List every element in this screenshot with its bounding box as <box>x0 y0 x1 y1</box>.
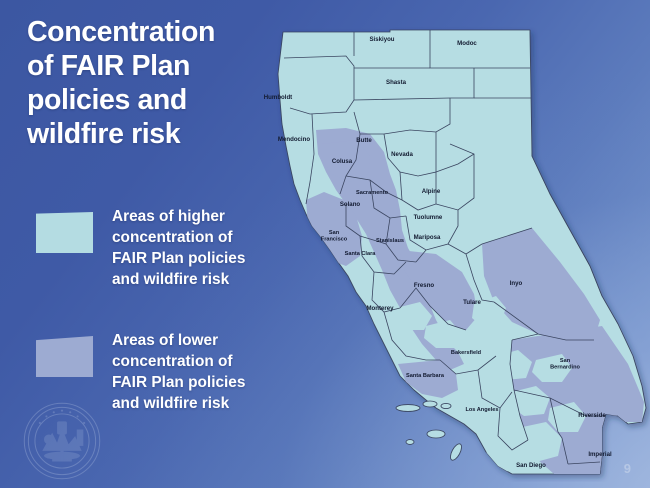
legend-higher-line-4: and wildfire risk <box>112 269 324 290</box>
county-label: Solano <box>340 201 361 208</box>
county-label: Bakersfield <box>451 350 482 356</box>
county-label: Riverside <box>578 412 606 419</box>
slide-canvas: SiskiyouModocShastaHumboldtMendocinoButt… <box>0 0 650 488</box>
county-label: Monterey <box>366 305 394 312</box>
county-label: Colusa <box>332 158 353 165</box>
county-label: Nevada <box>391 151 413 158</box>
county-label: Los Angeles <box>465 407 498 413</box>
legend-higher-line-2: concentration of <box>112 227 324 248</box>
county-label: Modoc <box>457 40 477 47</box>
legend-label-higher: Areas of higher concentration of FAIR Pl… <box>112 206 324 290</box>
legend-higher-line-3: FAIR Plan policies <box>112 248 324 269</box>
legend-higher-line-1: Areas of higher <box>112 206 324 227</box>
county-label: Inyo <box>510 280 523 287</box>
county-label: Mendocino <box>278 136 310 143</box>
legend-lower-line-3: FAIR Plan policies <box>112 372 324 393</box>
county-label: Alpine <box>422 188 441 195</box>
county-label: Sacramento <box>356 190 389 196</box>
county-label: Mariposa <box>414 234 441 241</box>
county-label: Santa Barbara <box>406 373 445 379</box>
legend-lower-line-4: and wildfire risk <box>112 393 324 414</box>
county-label: Siskiyou <box>369 36 394 43</box>
title-line-1: Concentration <box>27 16 279 50</box>
county-label: Tuolumne <box>414 214 443 221</box>
county-label: Shasta <box>386 79 407 86</box>
county-label: San Diego <box>516 462 546 469</box>
county-label: Santa Clara <box>345 251 377 257</box>
california-state-seal-watermark <box>16 400 108 482</box>
title-line-2: of FAIR Plan <box>27 50 279 84</box>
county-label: Stanislaus <box>376 238 404 244</box>
legend-lower-line-1: Areas of lower <box>112 330 324 351</box>
county-label: Fresno <box>414 282 435 289</box>
county-label: Imperial <box>588 451 612 458</box>
page-title: Concentration of FAIR Plan policies and … <box>27 16 279 152</box>
title-line-4: wildfire risk <box>27 118 279 152</box>
lower-concentration-swatch <box>36 336 93 377</box>
page-number: 9 <box>624 461 631 476</box>
title-line-3: policies and <box>27 84 279 118</box>
county-label: Tulare <box>463 299 481 306</box>
higher-concentration-swatch <box>36 212 93 253</box>
legend-label-lower: Areas of lower concentration of FAIR Pla… <box>112 330 324 414</box>
legend-lower-line-2: concentration of <box>112 351 324 372</box>
county-label: Butte <box>356 137 372 144</box>
